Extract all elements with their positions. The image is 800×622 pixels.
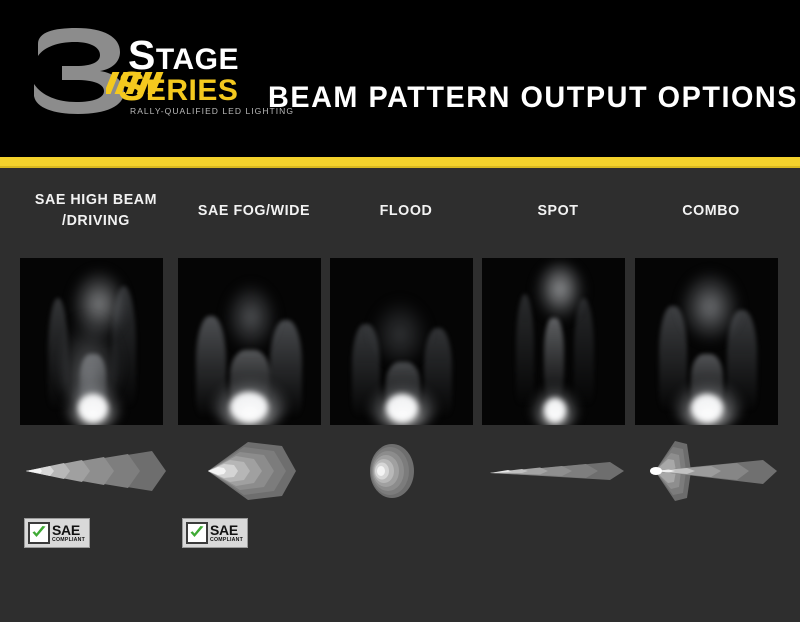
beam-pattern-diagram	[20, 440, 172, 502]
sae-compliant-badge: SAE COMPLIANT	[24, 518, 90, 548]
column-label: COMBO	[631, 200, 791, 221]
column-label: SAE HIGH BEAM /DRIVING	[12, 189, 179, 231]
column-label: SPOT	[478, 200, 638, 221]
check-icon	[28, 522, 50, 544]
beam-pattern-diagram	[482, 440, 634, 502]
column-spot: SPOT	[482, 168, 634, 622]
column-flood: FLOOD	[330, 168, 482, 622]
badge-subtitle: COMPLIANT	[210, 538, 243, 543]
check-icon	[186, 522, 208, 544]
badge-title: SAE	[52, 523, 85, 537]
brand-logo: STAGE SERIES RALLY-QUALIFIED LED LIGHTIN…	[28, 28, 260, 132]
page-title: BEAM PATTERN OUTPUT OPTIONS	[268, 77, 767, 119]
beam-photo-thumbnail	[635, 258, 778, 425]
column-sae-high-beam-driving: SAE HIGH BEAM /DRIVING	[20, 168, 172, 622]
beam-pattern-diagram	[330, 440, 482, 502]
sae-compliant-badge: SAE COMPLIANT	[182, 518, 248, 548]
beam-pattern-columns: SAE HIGH BEAM /DRIVING	[0, 168, 800, 622]
beam-photo-thumbnail	[20, 258, 163, 425]
beam-photo-thumbnail	[330, 258, 473, 425]
badge-subtitle: COMPLIANT	[52, 538, 85, 543]
column-label: FLOOD	[326, 200, 486, 221]
beam-pattern-diagram	[635, 440, 787, 502]
beam-pattern-diagram	[178, 440, 330, 502]
column-label: SAE FOG/WIDE	[174, 200, 334, 221]
beam-pattern-infographic: STAGE SERIES RALLY-QUALIFIED LED LIGHTIN…	[0, 0, 800, 622]
header-bar: STAGE SERIES RALLY-QUALIFIED LED LIGHTIN…	[0, 0, 800, 157]
wordmark-series: SERIES	[118, 71, 238, 106]
brand-wordmark: STAGE SERIES RALLY-QUALIFIED LED LIGHTIN…	[106, 36, 266, 128]
column-combo: COMBO	[635, 168, 787, 622]
column-sae-fog-wide: SAE FOG/WIDE	[178, 168, 330, 622]
beam-photo-thumbnail	[178, 258, 321, 425]
badge-title: SAE	[210, 523, 243, 537]
beam-photo-thumbnail	[482, 258, 625, 425]
